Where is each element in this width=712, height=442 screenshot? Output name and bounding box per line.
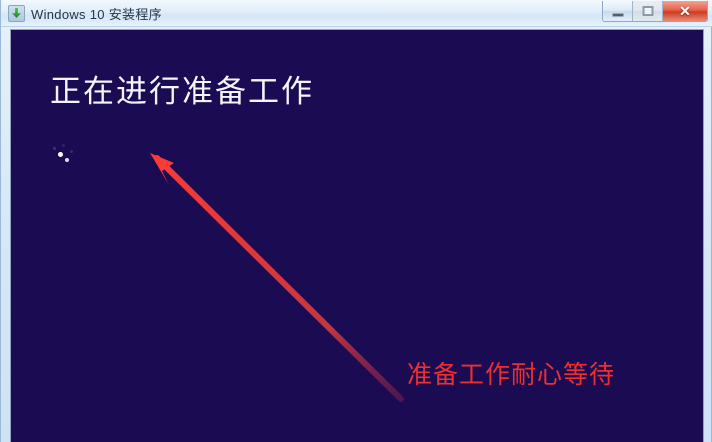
title-bar[interactable]: Windows 10 安装程序 ✕ — [1, 0, 712, 27]
page-title: 正在进行准备工作 — [50, 66, 314, 111]
installer-arrow-glyph — [12, 8, 21, 18]
close-button[interactable]: ✕ — [663, 1, 707, 21]
spinner-dot — [53, 147, 56, 150]
setup-installer-icon — [8, 5, 25, 22]
annotation-label: 准备工作耐心等待 — [407, 355, 615, 391]
spinner-dot — [62, 144, 65, 147]
window-title: Windows 10 安装程序 — [31, 4, 162, 23]
spinner-dot — [65, 158, 69, 162]
maximize-button[interactable] — [633, 1, 663, 21]
close-icon: ✕ — [679, 4, 691, 18]
loading-spinner-icon — [51, 142, 91, 168]
maximize-icon — [642, 6, 653, 16]
minimize-icon — [612, 14, 623, 17]
spinner-dot — [70, 150, 73, 153]
window-controls: ✕ — [602, 1, 708, 22]
setup-content-area: 正在进行准备工作 准备工作耐心等待 — [10, 29, 704, 442]
setup-window: Windows 10 安装程序 ✕ 正在进行准备工作 — [0, 0, 712, 442]
minimize-button[interactable] — [603, 1, 633, 21]
spinner-dot — [58, 152, 63, 157]
